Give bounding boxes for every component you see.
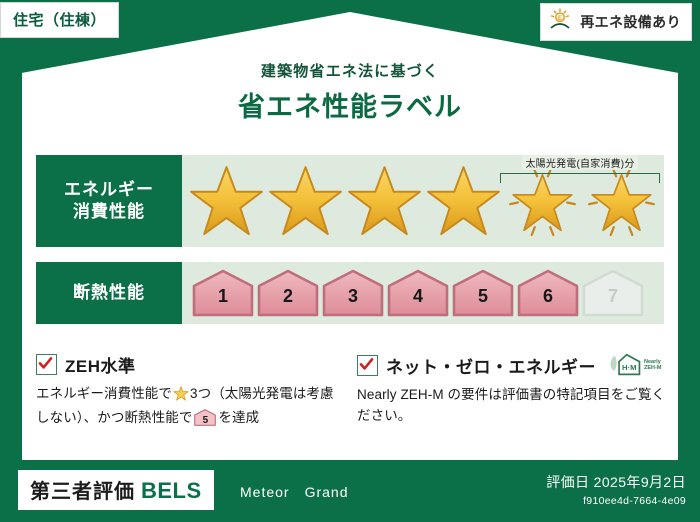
insulation-level-marker: 3 xyxy=(322,269,384,317)
insulation-level-number: 7 xyxy=(582,286,644,307)
criterion-title: ネット・ゼロ・エネルギー xyxy=(386,353,596,378)
criterion-zeh-standard: ZEH水準 エネルギー消費性能で3つ（太陽光発電は考慮しない）、かつ断熱性能で5… xyxy=(36,352,336,429)
insulation-rating-body: 1 2 3 4 5 xyxy=(182,262,664,324)
insulation-performance-label: 断熱性能 xyxy=(36,262,182,324)
criterion-star-count: 3つ（太陽光発電 xyxy=(190,386,293,401)
renewable-equipment-badge: E 再エネ設備あり xyxy=(540,3,692,41)
energy-label-line1: エネルギー xyxy=(64,179,154,201)
bels-certification-box: 第三者評価 BELS xyxy=(18,470,214,510)
nearly-zeh-m-logo: H·M Nearly ZEH-M xyxy=(608,352,661,378)
insulation-performance-row: 断熱性能 1 2 3 4 xyxy=(36,262,664,324)
star-solar xyxy=(504,164,581,238)
inline-star-icon xyxy=(173,386,189,408)
insulation-level-marker: 4 xyxy=(387,269,449,317)
insulation-level-scale: 1 2 3 4 5 xyxy=(182,269,644,317)
insulation-level-number: 5 xyxy=(452,286,514,307)
energy-rating-body: 太陽光発電(自家消費)分 xyxy=(182,155,664,247)
evaluation-date: 評価日 2025年9月2日 xyxy=(546,472,686,492)
criterion-net-zero-energy: ネット・ゼロ・エネルギー H·M Nearly ZEH-M Nearly ZEH… xyxy=(357,352,667,427)
insulation-level-marker: 2 xyxy=(257,269,319,317)
insulation-level-marker-inactive: 7 xyxy=(582,269,644,317)
criterion-desc-part1: エネルギー消費性能で xyxy=(36,386,172,401)
title-block: 建築物省エネ法に基づく 省エネ性能ラベル xyxy=(0,60,700,124)
evaluation-info: 評価日 2025年9月2日 f910ee4d-7664-4e09 xyxy=(546,472,686,507)
svg-text:H·M: H·M xyxy=(622,363,636,372)
insulation-level-marker: 1 xyxy=(192,269,254,317)
checkbox-checked-icon xyxy=(36,354,57,375)
green-frame: 住宅（住棟） E 再エネ設備あり 建築物省エネ法に基づく 省エネ性能ラベル xyxy=(0,0,700,522)
criterion-description: エネルギー消費性能で3つ（太陽光発電は考慮しない）、かつ断熱性能で5を達成 xyxy=(36,384,336,429)
star-filled xyxy=(267,164,344,238)
insulation-level-marker: 5 xyxy=(452,269,514,317)
checkbox-checked-icon xyxy=(357,355,378,376)
criterion-header: ZEH水準 xyxy=(36,352,336,377)
energy-performance-row: エネルギー 消費性能 xyxy=(36,155,664,247)
insulation-level-number: 2 xyxy=(257,286,319,307)
insulation-level-number: 4 xyxy=(387,286,449,307)
house-type-label: 住宅（住棟） xyxy=(13,12,106,29)
evaluation-id: f910ee4d-7664-4e09 xyxy=(546,495,686,507)
house-type-tab: 住宅（住棟） xyxy=(0,2,119,38)
star-filled xyxy=(425,164,502,238)
criterion-title: ZEH水準 xyxy=(65,352,136,377)
energy-performance-label: エネルギー 消費性能 xyxy=(36,155,182,247)
criterion-description: Nearly ZEH-M の要件は評価書の特記項目をご覧ください。 xyxy=(357,385,667,427)
energy-label-line2: 消費性能 xyxy=(73,201,145,223)
insulation-level-number: 3 xyxy=(322,286,384,307)
insulation-level-number: 1 xyxy=(192,286,254,307)
page-title: 省エネ性能ラベル xyxy=(0,85,700,124)
star-solar xyxy=(583,164,660,238)
solar-sun-icon: E xyxy=(549,8,573,35)
brand-name: Meteor Grand xyxy=(240,482,348,502)
svg-text:E: E xyxy=(558,15,563,22)
insulation-label-text: 断熱性能 xyxy=(73,282,145,304)
footer-bar: 第三者評価 BELS Meteor Grand 評価日 2025年9月2日 f9… xyxy=(0,462,700,522)
insulation-level-number: 6 xyxy=(517,286,579,307)
star-filled xyxy=(346,164,423,238)
criterion-desc-part3: を達成 xyxy=(218,410,259,425)
third-party-label: 第三者評価 xyxy=(30,475,135,504)
bels-label: BELS xyxy=(141,478,202,504)
renewable-badge-label: 再エネ設備あり xyxy=(580,12,681,32)
star-rating xyxy=(182,164,660,238)
insulation-level-marker: 6 xyxy=(517,269,579,317)
inline-house-level-number: 5 xyxy=(194,413,216,429)
zehm-logo-caption-2: ZEH-M xyxy=(644,365,661,371)
inline-house-level-icon: 5 xyxy=(194,409,216,426)
star-filled xyxy=(188,164,265,238)
criterion-header: ネット・ゼロ・エネルギー H·M Nearly ZEH-M xyxy=(357,352,667,378)
title-subtitle: 建築物省エネ法に基づく xyxy=(0,60,700,81)
